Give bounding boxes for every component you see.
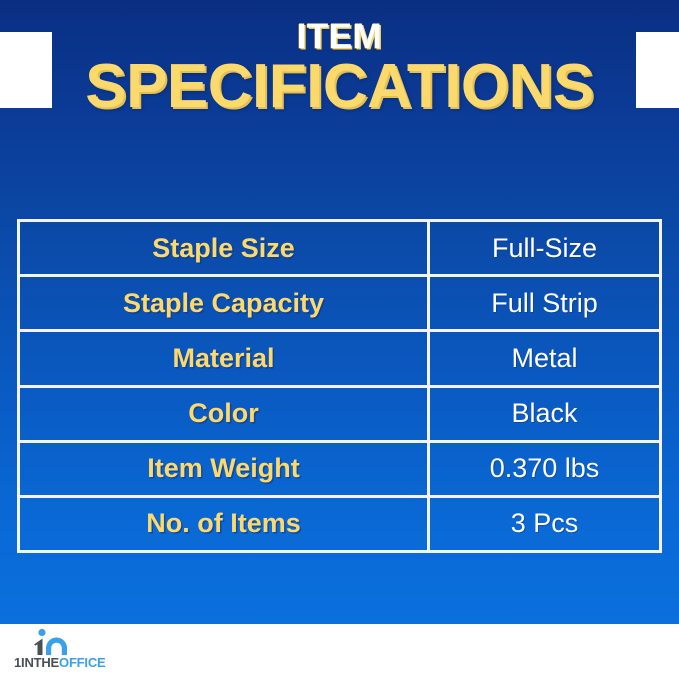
brand-wordmark-part2: OFFICE <box>59 655 105 670</box>
table-cell-value: 0.370 lbs <box>430 443 659 495</box>
table-row: Material Metal <box>20 332 659 387</box>
table-cell-label: Color <box>20 388 430 440</box>
spec-card: ITEM SPECIFICATIONS Staple Size Full-Siz… <box>0 0 679 676</box>
spec-label: Color <box>188 398 259 429</box>
brand-wordmark: 1INTHEOFFICE <box>14 655 134 670</box>
spec-value: 0.370 lbs <box>490 453 600 484</box>
table-cell-label: Item Weight <box>20 443 430 495</box>
table-cell-value: Black <box>430 388 659 440</box>
table-row: No. of Items 3 Pcs <box>20 498 659 550</box>
header: ITEM SPECIFICATIONS <box>0 0 679 130</box>
spec-value: 3 Pcs <box>511 508 579 539</box>
table-cell-label: Staple Capacity <box>20 277 430 329</box>
page-title: ITEM SPECIFICATIONS <box>0 0 679 120</box>
footer: 1INTHEOFFICE <box>0 624 679 676</box>
brand-wordmark-part1: 1INTHE <box>14 655 59 670</box>
table-row: Color Black <box>20 388 659 443</box>
spec-value: Full-Size <box>492 233 597 264</box>
spec-value: Black <box>511 398 577 429</box>
spec-label: Staple Capacity <box>123 288 324 319</box>
table-cell-value: Full-Size <box>430 222 659 274</box>
table-cell-value: 3 Pcs <box>430 498 659 550</box>
spec-label: Item Weight <box>147 453 300 484</box>
spec-label: Staple Size <box>152 233 295 264</box>
spec-value: Metal <box>511 343 577 374</box>
brand-logo: 1INTHEOFFICE <box>14 628 134 674</box>
spec-value: Full Strip <box>491 288 598 319</box>
specifications-table: Staple Size Full-Size Staple Capacity Fu… <box>17 219 662 553</box>
table-cell-label: Material <box>20 332 430 384</box>
table-row: Item Weight 0.370 lbs <box>20 443 659 498</box>
table-row: Staple Size Full-Size <box>20 222 659 277</box>
table-cell-label: Staple Size <box>20 222 430 274</box>
title-line-specifications: SPECIFICATIONS <box>0 54 679 120</box>
1n-monogram-icon <box>28 628 82 656</box>
blue-background-panel: ITEM SPECIFICATIONS Staple Size Full-Siz… <box>0 0 679 624</box>
table-cell-label: No. of Items <box>20 498 430 550</box>
table-row: Staple Capacity Full Strip <box>20 277 659 332</box>
spec-label: No. of Items <box>146 508 301 539</box>
table-cell-value: Metal <box>430 332 659 384</box>
spec-label: Material <box>172 343 274 374</box>
title-line-item: ITEM <box>0 0 679 56</box>
table-cell-value: Full Strip <box>430 277 659 329</box>
